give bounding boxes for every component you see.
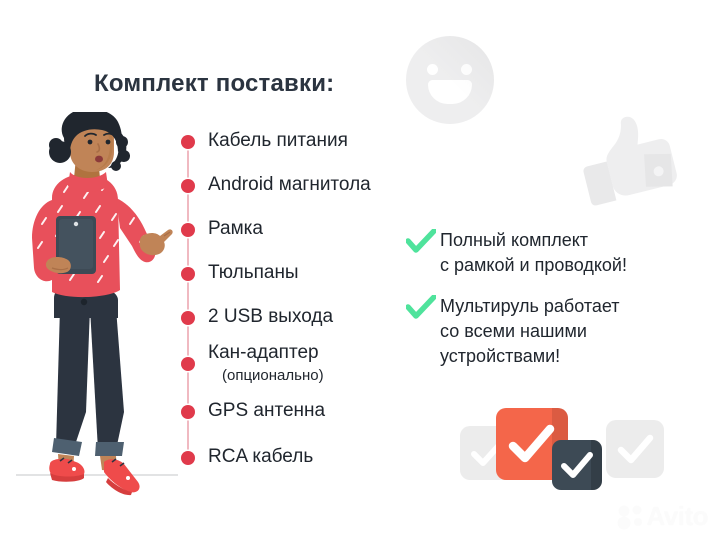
thumbs-up-icon [578,112,682,216]
feature-label: Мультируль работает со всеми нашими устр… [440,294,620,369]
avito-watermark: Avito [616,501,708,532]
list-item: Кан-адаптер (опционально) [178,340,428,386]
smiley-eye-right-icon [461,64,472,75]
avito-watermark-label: Avito [646,501,708,532]
list-item-label: Android магнитола [208,172,371,198]
smiley-mouth-icon [428,80,472,104]
list-item: GPS антенна [178,398,428,424]
list-item-label: Кан-адаптер [208,342,319,363]
list-item-label: Тюльпаны [208,260,299,286]
bullet-dot-icon [181,311,195,325]
list-item: Рамка [178,216,428,242]
list-item: RCA кабель [178,444,428,470]
checkbox-card-gray-right [606,420,664,478]
list-item: Тюльпаны [178,260,428,286]
bullet-dot-icon [181,405,195,419]
feature-item: Мультируль работает со всеми нашими устр… [406,294,706,369]
smiley-eye-left-icon [427,64,438,75]
page-title: Комплект поставки: [94,70,334,98]
list-item-label: Рамка [208,216,263,242]
feature-label: Полный комплект с рамкой и проводкой! [440,228,627,278]
bullet-dot-icon [181,135,195,149]
green-check-icon [406,295,436,321]
woman-with-tablet-illustration [12,112,182,512]
product-promo-image: Комплект поставки: Кабель питания Androi… [0,0,720,540]
list-item-label: 2 USB выхода [208,304,333,330]
list-item: Кабель питания [178,128,428,154]
contents-list: Кабель питания Android магнитола Рамка Т… [178,128,428,470]
feature-callouts: Полный комплект с рамкой и проводкой! Му… [406,228,706,385]
list-item-label: GPS антенна [208,398,325,424]
list-item-sublabel: (опционально) [208,366,324,386]
bullet-dot-icon [181,179,195,193]
bullet-dot-icon [181,223,195,237]
bullet-dot-icon [181,451,195,465]
list-item-label: RCA кабель [208,444,313,470]
list-item: Android магнитола [178,172,428,198]
list-item: 2 USB выхода [178,304,428,330]
green-check-icon [406,229,436,255]
checkbox-card-dark [552,440,602,490]
smiley-face-icon [406,36,494,124]
bullet-dot-icon [181,357,195,371]
checkbox-cards-decoration [460,408,660,488]
list-item-group: Кан-адаптер (опционально) [208,340,324,386]
avito-logo-icon [616,504,646,530]
list-item-label: Кабель питания [208,128,348,154]
bullet-dot-icon [181,267,195,281]
feature-item: Полный комплект с рамкой и проводкой! [406,228,706,278]
